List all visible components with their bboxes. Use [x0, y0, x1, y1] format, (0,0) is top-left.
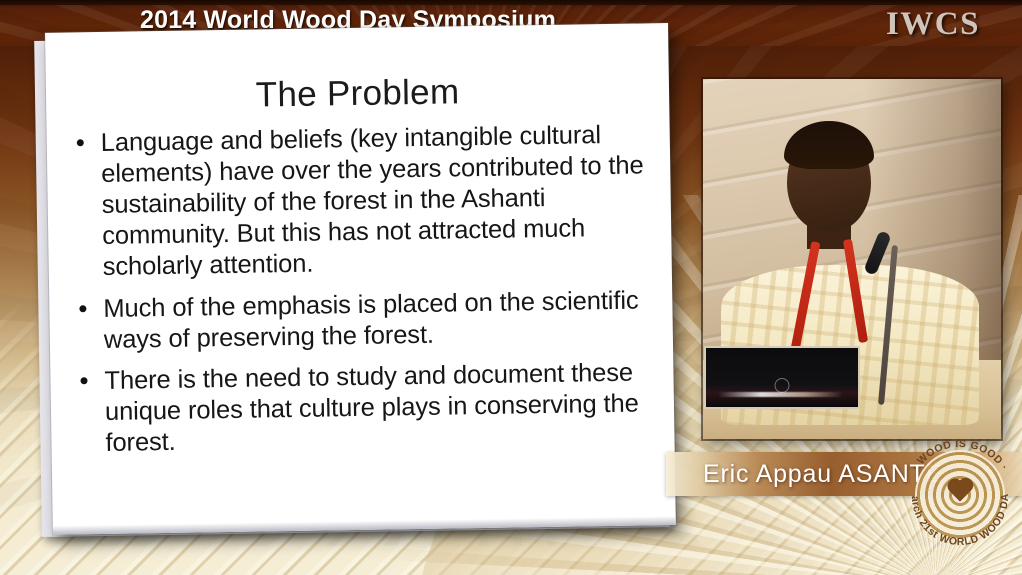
bullet-dot-icon [77, 139, 84, 146]
laptop [704, 346, 860, 409]
bullet-dot-icon [79, 305, 86, 312]
laptop-screen-glare [718, 392, 843, 397]
iwcs-logo: IWCS [886, 6, 980, 43]
bullet-dot-icon [80, 377, 87, 384]
world-wood-day-logo: · WOOD IS GOOD · March 21st WORLD WOOD D… [901, 436, 1019, 554]
slide-container: The Problem Language and beliefs (key in… [34, 23, 676, 541]
list-item: Language and beliefs (key intangible cul… [71, 119, 658, 284]
list-item: Much of the emphasis is placed on the sc… [73, 285, 659, 356]
presentation-video-frame: 2014 World Wood Day Symposium IWCS The P… [0, 0, 1022, 575]
list-item-text: Language and beliefs (key intangible cul… [101, 121, 644, 281]
list-item: There is the need to study and document … [74, 357, 660, 460]
list-item-text: There is the need to study and document … [104, 358, 639, 457]
hp-logo-icon [775, 378, 790, 393]
logo-arc-text: · WOOD IS GOOD · March 21st WORLD WOOD D… [901, 436, 1019, 554]
logo-top-arc-text: · WOOD IS GOOD · [910, 438, 1011, 473]
slide-title: The Problem [46, 69, 670, 119]
list-item-text: Much of the emphasis is placed on the sc… [103, 286, 639, 354]
slide-bullet-list: Language and beliefs (key intangible cul… [46, 113, 674, 460]
slide-page: The Problem Language and beliefs (key in… [45, 23, 676, 535]
speaker-video[interactable] [703, 79, 1001, 439]
